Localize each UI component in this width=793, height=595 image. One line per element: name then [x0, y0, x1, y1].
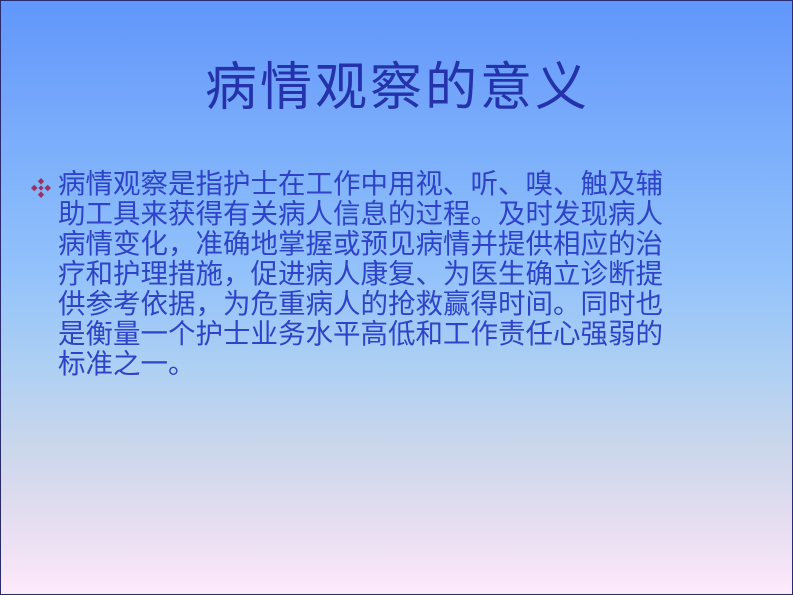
list-item: 病情观察是指护士在工作中用视、听、嗅、触及辅 助工具来获得有关病人信息的过程。及…: [31, 169, 771, 379]
body-line: 供参考依据，为危重病人的抢救赢得时间。同时也: [58, 289, 771, 319]
body-line: 病情变化，准确地掌握或预见病情并提供相应的治: [58, 229, 771, 259]
clover-diamond-bullet-icon: [31, 169, 58, 198]
body-line: 是衡量一个护士业务水平高低和工作责任心强弱的: [58, 319, 771, 349]
slide-body-placeholder: 病情观察是指护士在工作中用视、听、嗅、触及辅 助工具来获得有关病人信息的过程。及…: [31, 169, 771, 379]
body-line: 标准之一。: [58, 349, 771, 379]
presentation-slide: 病情观察的意义 病情观察是指护士在工作中用视、听、嗅、触及辅 助工具来获得有关病…: [0, 0, 793, 595]
body-line: 疗和护理措施，促进病人康复、为医生确立诊断提: [58, 259, 771, 289]
slide-title-placeholder: 病情观察的意义: [1, 59, 793, 117]
bullet-paragraph: 病情观察是指护士在工作中用视、听、嗅、触及辅 助工具来获得有关病人信息的过程。及…: [58, 169, 771, 379]
page-title: 病情观察的意义: [205, 59, 590, 117]
body-line: 助工具来获得有关病人信息的过程。及时发现病人: [58, 199, 771, 229]
body-line: 病情观察是指护士在工作中用视、听、嗅、触及辅: [58, 169, 771, 199]
